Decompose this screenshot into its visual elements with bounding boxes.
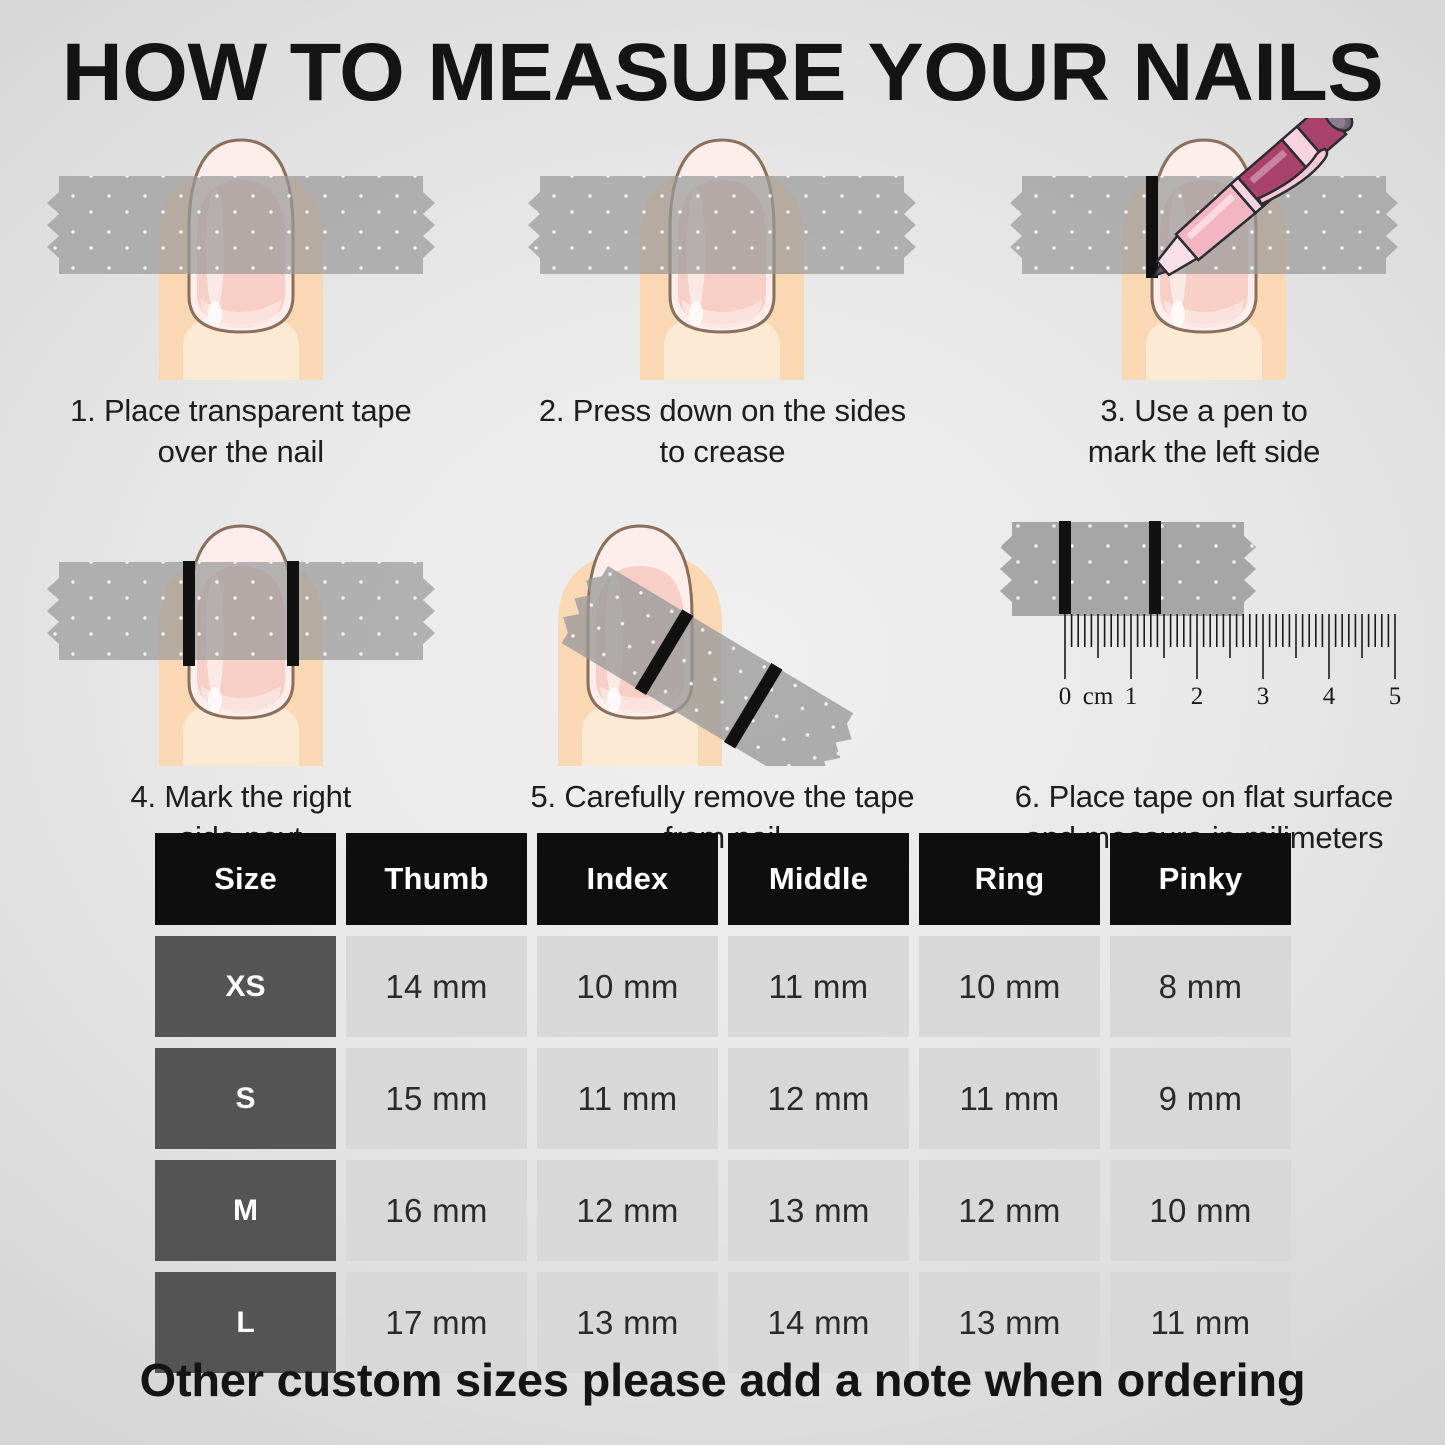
table-row: M 16 mm 12 mm 13 mm 12 mm 10 mm <box>155 1160 1322 1261</box>
pen-mark-left <box>183 561 195 666</box>
cell-s-ring: 11 mm <box>919 1048 1100 1149</box>
step-6: 0 cm 1 2 3 4 5 6. Place tape on flat sur… <box>963 504 1445 858</box>
tape-strip <box>47 176 435 274</box>
table-header-pinky: Pinky <box>1110 833 1291 925</box>
page-title: HOW TO MEASURE YOUR NAILS <box>0 26 1445 120</box>
step-5-caption-line-1: 5. Carefully remove the tape <box>507 776 937 817</box>
ruler-tick-3: 3 <box>1257 683 1270 710</box>
step-1: 1. Place transparent tape over the nail <box>0 118 482 472</box>
cell-xs-middle: 11 mm <box>728 936 909 1037</box>
step-2-caption-line-2: to crease <box>507 431 937 472</box>
infographic-page: HOW TO MEASURE YOUR NAILS <box>0 0 1445 1445</box>
pen-mark-left <box>1146 176 1158 278</box>
step-4-caption-line-1: 4. Mark the right <box>26 776 456 817</box>
tape-strip <box>47 562 435 660</box>
table-header-ring: Ring <box>919 833 1100 925</box>
step-3-illustration <box>994 118 1414 380</box>
ruler <box>1065 614 1395 679</box>
ruler-tick-1: 1 <box>1125 683 1138 710</box>
ruler-tick-2: 2 <box>1191 683 1204 710</box>
size-label-s: S <box>155 1048 336 1149</box>
pen-mark-right <box>287 561 299 666</box>
ruler-unit-label: cm <box>1083 683 1114 710</box>
pen-mark-left <box>1059 521 1071 614</box>
table-header-size: Size <box>155 833 336 925</box>
steps-row-top: 1. Place transparent tape over the nail <box>0 118 1445 472</box>
cell-m-pinky: 10 mm <box>1110 1160 1291 1261</box>
step-1-illustration <box>31 118 451 380</box>
step-2-caption-line-1: 2. Press down on the sides <box>507 390 937 431</box>
step-3: 3. Use a pen to mark the left side <box>963 118 1445 472</box>
cell-s-index: 11 mm <box>537 1048 718 1149</box>
tape-strip-flat <box>1000 521 1256 616</box>
step-4: 4. Mark the right side next <box>0 504 482 858</box>
cell-xs-pinky: 8 mm <box>1110 936 1291 1037</box>
cell-m-middle: 13 mm <box>728 1160 909 1261</box>
finger-with-two-marks <box>31 504 451 766</box>
tape-strip <box>528 176 916 274</box>
steps-row-bottom: 4. Mark the right side next <box>0 504 1445 858</box>
tape-on-ruler: 0 cm 1 2 3 4 5 <box>994 504 1414 766</box>
finger-with-tape-plain <box>31 118 451 380</box>
step-1-caption-line-1: 1. Place transparent tape <box>26 390 456 431</box>
steps-container: 1. Place transparent tape over the nail <box>0 118 1445 858</box>
step-4-illustration <box>31 504 451 766</box>
table-header-index: Index <box>537 833 718 925</box>
step-1-caption-line-2: over the nail <box>26 431 456 472</box>
custom-size-note: Other custom sizes please add a note whe… <box>0 1353 1445 1407</box>
finger-tape-peeled <box>512 504 932 766</box>
cell-m-index: 12 mm <box>537 1160 718 1261</box>
step-2: 2. Press down on the sides to crease <box>482 118 964 472</box>
table-header-thumb: Thumb <box>346 833 527 925</box>
step-5-illustration <box>512 504 932 766</box>
table-header-middle: Middle <box>728 833 909 925</box>
cell-m-ring: 12 mm <box>919 1160 1100 1261</box>
step-3-caption-line-1: 3. Use a pen to <box>989 390 1419 431</box>
size-label-xs: XS <box>155 936 336 1037</box>
pen-mark-right <box>1149 521 1161 614</box>
step-6-caption-line-1: 6. Place tape on flat surface <box>989 776 1419 817</box>
step-6-illustration: 0 cm 1 2 3 4 5 <box>994 504 1414 766</box>
step-5: 5. Carefully remove the tape from nail <box>482 504 964 858</box>
table-row: XS 14 mm 10 mm 11 mm 10 mm 8 mm <box>155 936 1322 1037</box>
ruler-tick-4: 4 <box>1323 683 1336 710</box>
ruler-labels: 0 cm 1 2 3 4 5 <box>1059 683 1402 710</box>
ruler-tick-5: 5 <box>1389 683 1402 710</box>
cell-s-thumb: 15 mm <box>346 1048 527 1149</box>
step-1-caption: 1. Place transparent tape over the nail <box>26 390 456 472</box>
cell-s-pinky: 9 mm <box>1110 1048 1291 1149</box>
cell-xs-thumb: 14 mm <box>346 936 527 1037</box>
table-row: S 15 mm 11 mm 12 mm 11 mm 9 mm <box>155 1048 1322 1149</box>
size-table: Size Thumb Index Middle Ring Pinky XS 14… <box>155 833 1322 1384</box>
cell-xs-ring: 10 mm <box>919 936 1100 1037</box>
step-3-caption: 3. Use a pen to mark the left side <box>989 390 1419 472</box>
step-2-caption: 2. Press down on the sides to crease <box>507 390 937 472</box>
size-label-m: M <box>155 1160 336 1261</box>
cell-m-thumb: 16 mm <box>346 1160 527 1261</box>
table-header-row: Size Thumb Index Middle Ring Pinky <box>155 833 1322 925</box>
step-3-caption-line-2: mark the left side <box>989 431 1419 472</box>
finger-with-tape-creased <box>512 118 932 380</box>
cell-xs-index: 10 mm <box>537 936 718 1037</box>
ruler-tick-0: 0 <box>1059 683 1072 710</box>
step-2-illustration <box>512 118 932 380</box>
finger-with-pen-marking <box>994 118 1414 380</box>
cell-s-middle: 12 mm <box>728 1048 909 1149</box>
